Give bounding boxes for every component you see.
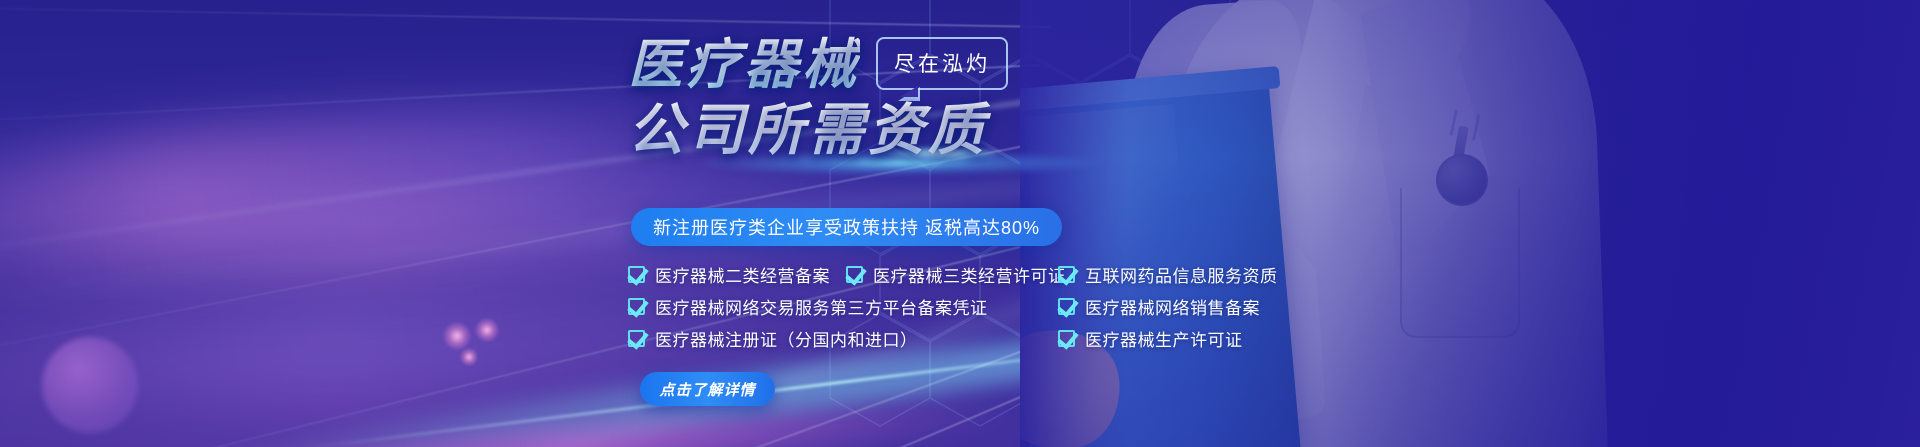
- checklist-column-middle: 医疗器械三类经营许可证: [846, 258, 1066, 290]
- headline-row: 医疗器械 尽在泓灼: [628, 36, 1008, 94]
- medical-device-qualification-banner: 医疗器械 尽在泓灼 公司所需资质 新注册医疗类企业享受政策扶持 返税高达80% …: [0, 0, 1920, 447]
- checkbox-checked-icon: [628, 298, 645, 315]
- list-item[interactable]: 医疗器械三类经营许可证: [846, 258, 1066, 290]
- banner-content: 医疗器械 尽在泓灼 公司所需资质 新注册医疗类企业享受政策扶持 返税高达80% …: [0, 0, 1920, 447]
- list-item-label: 医疗器械三类经营许可证: [873, 262, 1066, 287]
- list-item-label: 医疗器械注册证（分国内和进口）: [655, 326, 918, 351]
- checkbox-checked-icon: [1058, 330, 1075, 347]
- headline-block: 医疗器械 尽在泓灼 公司所需资质: [628, 36, 1008, 160]
- list-item[interactable]: 互联网药品信息服务资质: [1058, 258, 1278, 290]
- list-item[interactable]: 医疗器械生产许可证: [1058, 322, 1278, 354]
- checkbox-checked-icon: [1058, 298, 1075, 315]
- promo-pill: 新注册医疗类企业享受政策扶持 返税高达80%: [631, 208, 1062, 246]
- headline-line-1: 医疗器械: [628, 36, 860, 94]
- checkbox-checked-icon: [846, 266, 863, 283]
- learn-more-button-label: 点击了解详情: [659, 379, 755, 400]
- checklist-column-right: 互联网药品信息服务资质 医疗器械网络销售备案 医疗器械生产许可证: [1058, 258, 1278, 354]
- brand-callout-badge: 尽在泓灼: [876, 37, 1008, 90]
- headline-line-2: 公司所需资质: [628, 100, 1008, 160]
- checkbox-checked-icon: [1058, 266, 1075, 283]
- promo-text: 新注册医疗类企业享受政策扶持 返税高达80%: [653, 214, 1040, 240]
- learn-more-button[interactable]: 点击了解详情: [640, 372, 775, 406]
- list-item[interactable]: 医疗器械网络销售备案: [1058, 290, 1278, 322]
- checkbox-checked-icon: [628, 330, 645, 347]
- brand-callout-text: 尽在泓灼: [894, 53, 990, 76]
- list-item[interactable]: 医疗器械网络交易服务第三方平台备案凭证: [628, 290, 988, 322]
- list-item-label: 医疗器械网络销售备案: [1085, 294, 1260, 319]
- checkbox-checked-icon: [628, 266, 645, 283]
- list-item-label: 医疗器械网络交易服务第三方平台备案凭证: [655, 294, 988, 319]
- list-item-label: 医疗器械二类经营备案: [655, 262, 830, 287]
- list-item[interactable]: 医疗器械注册证（分国内和进口）: [628, 322, 988, 354]
- list-item-label: 医疗器械生产许可证: [1085, 326, 1243, 351]
- list-item-label: 互联网药品信息服务资质: [1085, 262, 1278, 287]
